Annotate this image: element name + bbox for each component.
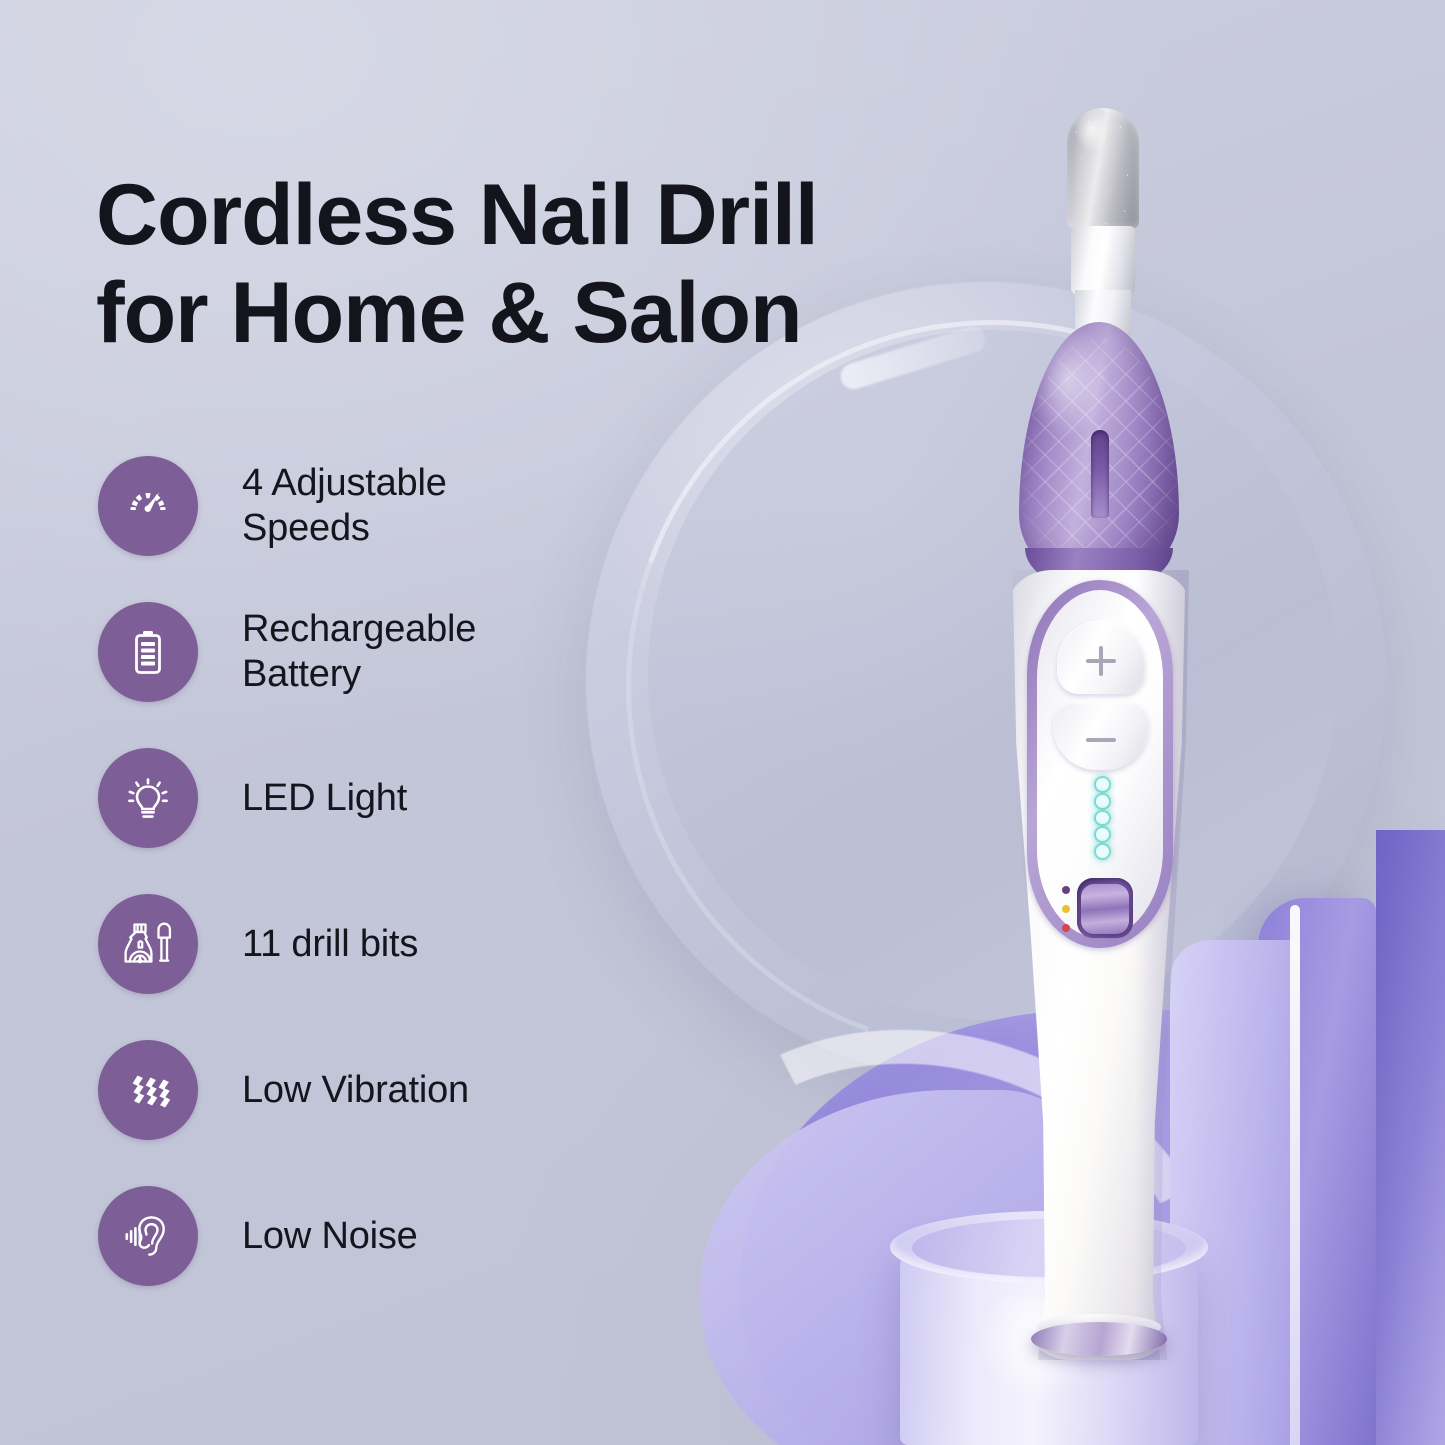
lightbulb-icon	[98, 748, 198, 848]
feature-label: Rechargeable Battery	[242, 607, 476, 697]
drill-bits-icon	[98, 894, 198, 994]
speedometer-icon	[98, 456, 198, 556]
power-slider-knob[interactable]	[1081, 884, 1129, 934]
handle-base-metal-ring	[1031, 1322, 1167, 1356]
status-led-yellow	[1062, 905, 1070, 913]
cap-vent-slot	[1091, 430, 1109, 518]
feature-item-low-noise: Low Noise	[98, 1186, 658, 1286]
headline-line-2: for Home & Salon	[96, 264, 936, 362]
background-panel-edge-highlight	[1290, 905, 1300, 1445]
plus-icon-vertical	[1099, 646, 1103, 676]
speed-led	[1094, 810, 1111, 827]
ear-sound-icon	[98, 1186, 198, 1286]
feature-label: Low Noise	[242, 1214, 418, 1259]
feature-label: 11 drill bits	[242, 922, 418, 967]
battery-icon	[98, 602, 198, 702]
nail-drill-product-image	[995, 100, 1215, 1250]
feature-label: 4 Adjustable Speeds	[242, 461, 447, 551]
status-led-group	[1061, 886, 1070, 932]
sanding-bit-grit-texture	[1067, 108, 1139, 228]
feature-item-speeds: 4 Adjustable Speeds	[98, 456, 658, 556]
speed-level-indicator	[1091, 776, 1113, 860]
speed-led	[1094, 776, 1111, 793]
speed-led	[1094, 826, 1111, 843]
feature-item-drill-bits: 11 drill bits	[98, 894, 658, 994]
status-led-red	[1062, 924, 1070, 932]
page-title: Cordless Nail Drill for Home & Salon	[96, 166, 936, 362]
status-led-dark	[1062, 886, 1070, 894]
background-panel-right-edge	[1376, 830, 1445, 1445]
product-infographic: Cordless Nail Drill for Home & Salon	[0, 0, 1445, 1445]
feature-item-low-vibration: Low Vibration	[98, 1040, 658, 1140]
feature-list: 4 Adjustable Speeds Rechargeable Battery	[98, 456, 658, 1332]
feature-label: Low Vibration	[242, 1068, 469, 1113]
feature-label: LED Light	[242, 776, 407, 821]
feature-item-battery: Rechargeable Battery	[98, 602, 658, 702]
headline-line-1: Cordless Nail Drill	[96, 167, 818, 263]
bit-collar	[1071, 226, 1135, 294]
minus-icon	[1086, 738, 1116, 742]
speed-led	[1094, 843, 1111, 860]
speed-led	[1094, 793, 1111, 810]
feature-item-led-light: LED Light	[98, 748, 658, 848]
vibration-icon	[98, 1040, 198, 1140]
